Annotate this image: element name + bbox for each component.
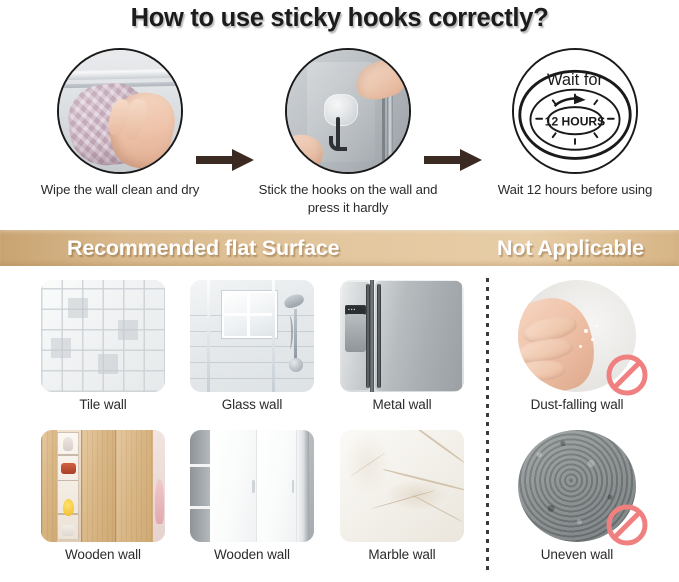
- shower-bar: [294, 309, 297, 361]
- window: [222, 291, 277, 338]
- prohibition-icon: [604, 352, 650, 398]
- white-wardrobe-thumbnail: [190, 430, 314, 542]
- surface-cell-wooden-wall-1: Wooden wall: [41, 430, 165, 542]
- shelf-letters: [62, 525, 74, 536]
- wooden-wall-thumbnail: [41, 430, 165, 542]
- wood-panel: [81, 430, 116, 542]
- arrow-step2-to-step3: [424, 149, 482, 171]
- shelf-ornament: [63, 437, 73, 451]
- surface-label-glass-wall: Glass wall: [176, 397, 328, 412]
- fridge-right-door: [375, 281, 462, 391]
- step-3-caption: Wait 12 hours before using: [480, 181, 670, 199]
- tile-shade: [51, 338, 71, 358]
- infographic-page: How to use sticky hooks correctly? Wipe …: [0, 0, 679, 582]
- clock-top-label: Wait for: [547, 71, 604, 89]
- glass-panel-edge: [207, 280, 210, 392]
- clock-dial-label: 12 HOURS: [545, 115, 606, 129]
- shelf-toy-train: [61, 463, 76, 475]
- banner-recommended-label: Recommended flat Surface: [67, 236, 339, 261]
- surfaces-section: Tile wall Glass: [0, 276, 679, 582]
- fridge-handle: [366, 284, 370, 387]
- wardrobe-door-left: [210, 430, 257, 542]
- tile-shade: [118, 320, 138, 340]
- wardrobe-right-edge: [297, 430, 309, 542]
- wardrobe-door-right: [257, 430, 297, 542]
- surface-label-uneven-wall: Uneven wall: [498, 547, 656, 562]
- shower-valve: [289, 358, 303, 372]
- surface-cell-uneven-wall: Uneven wall: [518, 430, 636, 542]
- surface-label-dust-falling-wall: Dust-falling wall: [498, 397, 656, 412]
- shower-hose: [286, 316, 293, 350]
- step-1-caption: Wipe the wall clean and dry: [26, 181, 214, 199]
- display-shelf: [57, 432, 79, 540]
- glass-panel-edge: [272, 280, 275, 392]
- surface-cell-glass-wall: Glass wall: [190, 280, 314, 392]
- shelf-line: [190, 506, 210, 509]
- step-2-caption: Stick the hooks on the wall and press it…: [255, 181, 441, 217]
- wood-panel: [41, 430, 57, 542]
- tile-shade: [68, 298, 88, 318]
- surface-cell-marble-wall: Marble wall: [340, 430, 464, 542]
- page-title: How to use sticky hooks correctly?: [0, 4, 679, 33]
- metal-wall-thumbnail: ▪▪▪: [340, 280, 464, 392]
- surface-label-tile-wall: Tile wall: [27, 397, 179, 412]
- surface-cell-dust-falling-wall: Dust-falling wall: [518, 280, 636, 392]
- surface-label-wooden-wall-1: Wooden wall: [27, 547, 179, 562]
- wood-panel: [115, 430, 152, 542]
- step-2-photo-stick-hook: [285, 48, 411, 174]
- surface-cell-tile-wall: Tile wall: [41, 280, 165, 392]
- surface-label-wooden-wall-2: Wooden wall: [176, 547, 328, 562]
- clock-illustration: 12 HOURS Wait for: [514, 50, 636, 172]
- step-3-photo-clock: 12 HOURS Wait for: [512, 48, 638, 174]
- window-mullion: [247, 293, 250, 336]
- panel-digits: ▪▪▪: [348, 307, 356, 313]
- tile-shade: [98, 354, 118, 374]
- shelf-line: [190, 464, 210, 467]
- door-handle: [252, 480, 255, 492]
- step-2: Stick the hooks on the wall and press it…: [285, 48, 411, 174]
- steps-section: Wipe the wall clean and dry Stick the ho…: [0, 48, 679, 220]
- tile-wall-thumbnail: [41, 280, 165, 392]
- pink-object: [155, 479, 164, 524]
- hook: [336, 117, 340, 149]
- arrow-step1-to-step2: [196, 149, 254, 171]
- transparent-adhesive-pad: [324, 94, 358, 126]
- shelf-toy-duck: [63, 499, 74, 516]
- surface-cell-metal-wall: ▪▪▪ Metal wall: [340, 280, 464, 392]
- wardrobe-side-shelves: [190, 430, 210, 542]
- marble-wall-thumbnail: [340, 430, 464, 542]
- surface-label-marble-wall: Marble wall: [326, 547, 478, 562]
- shelf-divider: [58, 480, 78, 482]
- tile-grid: [41, 280, 165, 392]
- shelf-divider: [58, 454, 78, 456]
- door-handle: [292, 480, 295, 492]
- step-3: 12 HOURS Wait for Wait 12 hours before u…: [512, 48, 638, 174]
- section-banner: Recommended flat Surface Not Applicable: [0, 230, 679, 266]
- fridge-door-gap: [370, 280, 374, 392]
- vertical-dotted-divider: [486, 278, 489, 570]
- prohibition-icon: [604, 502, 650, 548]
- fridge-handle: [377, 284, 381, 387]
- step-1-photo-wipe-wall: [57, 48, 183, 174]
- water-dispenser: [345, 314, 366, 352]
- surface-label-metal-wall: Metal wall: [326, 397, 478, 412]
- glass-wall-thumbnail: [190, 280, 314, 392]
- step-1: Wipe the wall clean and dry: [57, 48, 183, 174]
- banner-not-applicable-label: Not Applicable: [497, 236, 644, 261]
- surface-cell-wooden-wall-2: Wooden wall: [190, 430, 314, 542]
